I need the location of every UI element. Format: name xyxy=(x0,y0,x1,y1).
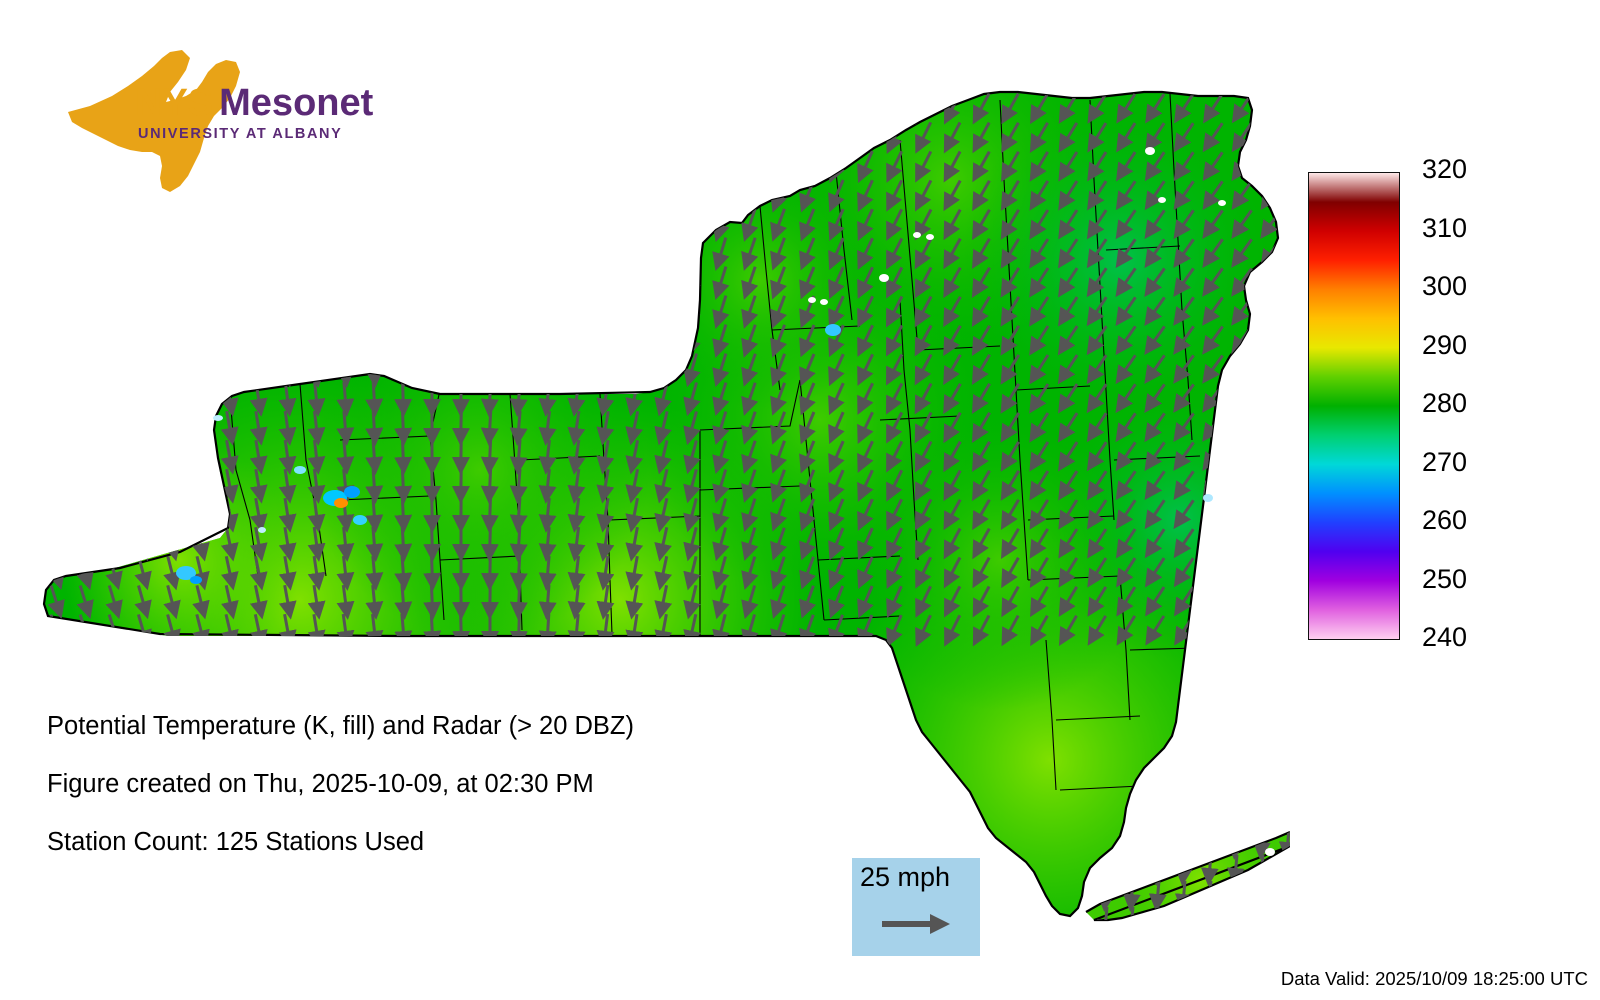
colorbar-tick-labels: 320310300290280270260250240 xyxy=(1408,158,1488,654)
caption-station-count: Station Count: 125 Stations Used xyxy=(47,828,867,857)
colorbar-tick-310: 310 xyxy=(1422,213,1467,244)
colorbar-tick-320: 320 xyxy=(1422,154,1467,185)
caption-created: Figure created on Thu, 2025-10-09, at 02… xyxy=(47,770,867,799)
data-valid-timestamp: Data Valid: 2025/10/09 18:25:00 UTC xyxy=(1281,968,1588,990)
colorbar-tick-240: 240 xyxy=(1422,622,1467,653)
caption-title: Potential Temperature (K, fill) and Rada… xyxy=(47,712,867,741)
colorbar: 320310300290280270260250240 xyxy=(1308,172,1408,640)
wind-speed-key: 25 mph xyxy=(852,858,980,956)
colorbar-tick-300: 300 xyxy=(1422,271,1467,302)
colorbar-tick-250: 250 xyxy=(1422,564,1467,595)
colorbar-tick-280: 280 xyxy=(1422,388,1467,419)
colorbar-tick-290: 290 xyxy=(1422,330,1467,361)
arrow-right-icon xyxy=(880,912,952,941)
wind-key-label: 25 mph xyxy=(860,862,950,893)
figure-caption: Potential Temperature (K, fill) and Rada… xyxy=(47,712,867,886)
colorbar-tick-260: 260 xyxy=(1422,505,1467,536)
colorbar-gradient xyxy=(1308,172,1400,640)
colorbar-tick-270: 270 xyxy=(1422,447,1467,478)
